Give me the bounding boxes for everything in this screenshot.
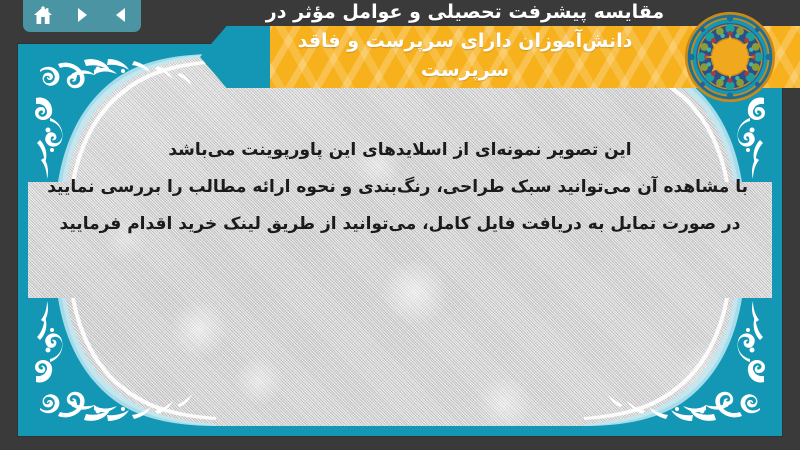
corner-ornament-bottom-right [584,298,772,426]
navigation-bar [23,0,141,32]
persian-medallion-ornament [684,11,776,103]
slide-stage: این تصویر نمونه‌ای از اسلایدهای این پاور… [0,0,800,450]
home-icon[interactable] [28,2,58,28]
content-surface: این تصویر نمونه‌ای از اسلایدهای این پاور… [28,54,772,426]
body-line-3: در صورت تمایل به دریافت فایل کامل، می‌تو… [52,206,748,243]
body-line-1: این تصویر نمونه‌ای از اسلایدهای این پاور… [52,132,748,169]
title-line-1: مقایسه پیشرفت تحصیلی و عوامل مؤثر در [250,0,680,27]
corner-ornament-bottom-left [28,298,216,426]
slide-body-text: این تصویر نمونه‌ای از اسلایدهای این پاور… [52,132,748,243]
content-frame: این تصویر نمونه‌ای از اسلایدهای این پاور… [18,44,782,436]
body-line-2: با مشاهده آن می‌توانید سبک طراحی، رنگ‌بن… [52,169,748,206]
forward-icon[interactable] [67,2,97,28]
back-icon[interactable] [106,2,136,28]
